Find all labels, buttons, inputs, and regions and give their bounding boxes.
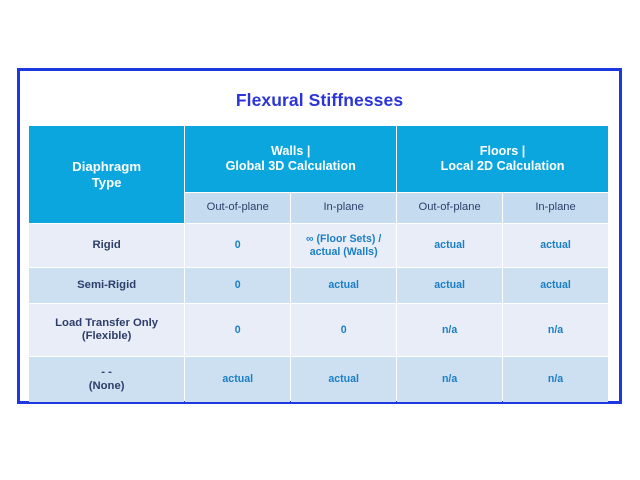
table-row: - - (None) actual actual n/a n/a	[29, 357, 608, 402]
header-group-floors-line2: Local 2D Calculation	[397, 159, 608, 174]
subheader-walls-out-of-plane: Out-of-plane	[185, 193, 290, 223]
table-header-group-row: Diaphragm Type Walls | Global 3D Calcula…	[29, 126, 608, 192]
header-group-walls: Walls | Global 3D Calculation	[185, 126, 396, 192]
header-diaphragm-type: Diaphragm Type	[29, 126, 184, 223]
cell-none-walls-out-of-plane: actual	[185, 357, 290, 402]
table-row: Load Transfer Only (Flexible) 0 0 n/a n/…	[29, 304, 608, 356]
cell-none-walls-in-plane: actual	[291, 357, 396, 402]
cell-semi-rigid-walls-in-plane: actual	[291, 268, 396, 303]
cell-none-floors-in-plane: n/a	[503, 357, 608, 402]
table-row: Semi-Rigid 0 actual actual actual	[29, 268, 608, 303]
row-label-rigid: Rigid	[29, 224, 184, 267]
cell-rigid-walls-in-plane-line2: actual (Walls)	[291, 246, 396, 259]
row-label-load-transfer-only: Load Transfer Only (Flexible)	[29, 304, 184, 356]
row-label-none-line2: (None)	[29, 380, 184, 393]
cell-none-floors-out-of-plane: n/a	[397, 357, 502, 402]
cell-load-transfer-floors-out-of-plane: n/a	[397, 304, 502, 356]
subheader-floors-in-plane: In-plane	[503, 193, 608, 223]
header-group-floors: Floors | Local 2D Calculation	[397, 126, 608, 192]
header-diaphragm-type-line1: Diaphragm	[29, 159, 184, 175]
subheader-floors-out-of-plane: Out-of-plane	[397, 193, 502, 223]
cell-rigid-walls-in-plane: ∞ (Floor Sets) / actual (Walls)	[291, 224, 396, 267]
row-label-semi-rigid: Semi-Rigid	[29, 268, 184, 303]
row-label-load-transfer-only-line2: (Flexible)	[29, 330, 184, 343]
cell-semi-rigid-floors-in-plane: actual	[503, 268, 608, 303]
header-group-walls-line1: Walls |	[185, 144, 396, 159]
row-label-load-transfer-only-line1: Load Transfer Only	[29, 317, 184, 330]
row-label-none-line1: - -	[29, 366, 184, 379]
row-label-none: - - (None)	[29, 357, 184, 402]
cell-rigid-floors-in-plane: actual	[503, 224, 608, 267]
table-row: Rigid 0 ∞ (Floor Sets) / actual (Walls) …	[29, 224, 608, 267]
cell-semi-rigid-walls-out-of-plane: 0	[185, 268, 290, 303]
cell-load-transfer-walls-in-plane: 0	[291, 304, 396, 356]
cell-load-transfer-floors-in-plane: n/a	[503, 304, 608, 356]
header-diaphragm-type-line2: Type	[29, 175, 184, 191]
header-group-walls-line2: Global 3D Calculation	[185, 159, 396, 174]
content-frame: Flexural Stiffnesses Diaphragm Type Wall…	[17, 68, 622, 404]
cell-load-transfer-walls-out-of-plane: 0	[185, 304, 290, 356]
page-title: Flexural Stiffnesses	[20, 90, 619, 111]
subheader-walls-in-plane: In-plane	[291, 193, 396, 223]
flexural-stiffnesses-table: Diaphragm Type Walls | Global 3D Calcula…	[28, 125, 609, 403]
cell-rigid-walls-in-plane-line1: ∞ (Floor Sets) /	[291, 233, 396, 246]
cell-semi-rigid-floors-out-of-plane: actual	[397, 268, 502, 303]
cell-rigid-floors-out-of-plane: actual	[397, 224, 502, 267]
header-group-floors-line1: Floors |	[397, 144, 608, 159]
cell-rigid-walls-out-of-plane: 0	[185, 224, 290, 267]
